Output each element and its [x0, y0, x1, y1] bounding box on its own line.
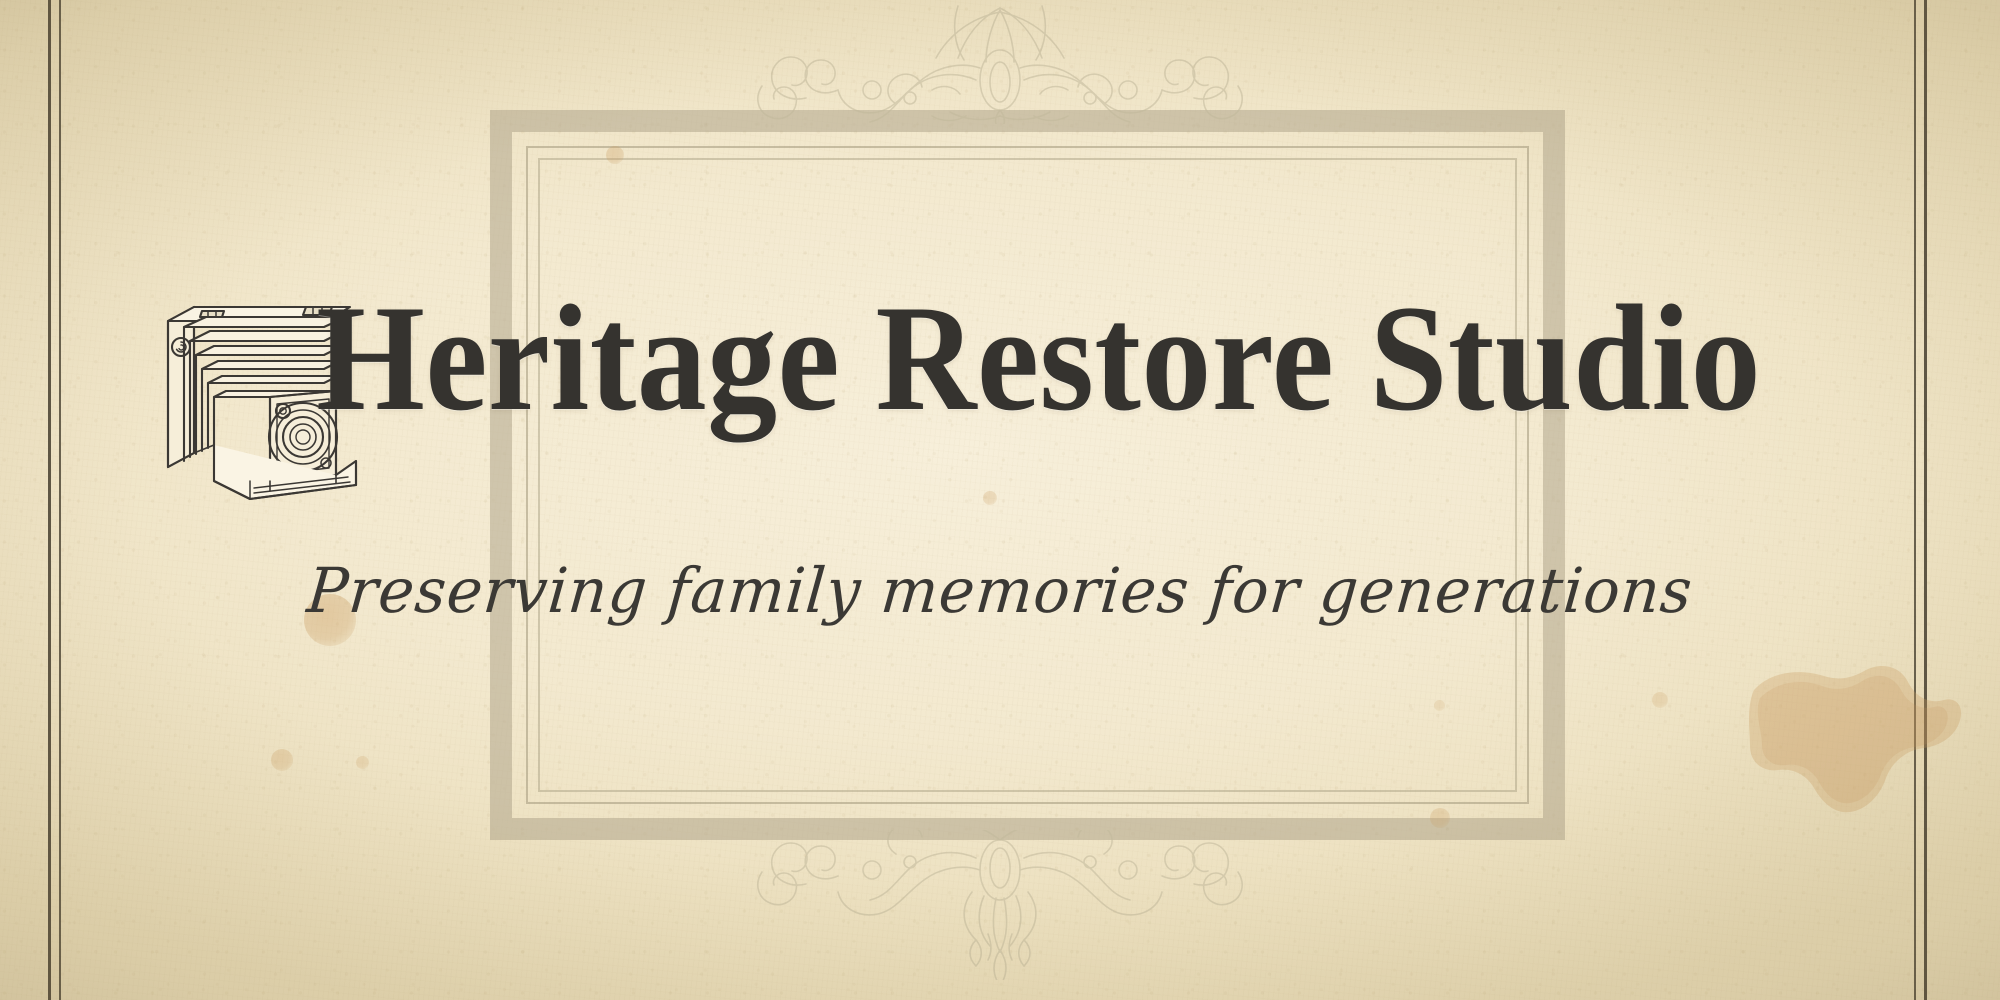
frame-inner-rule-inner	[538, 158, 1517, 792]
age-spot-right	[1652, 692, 1668, 708]
age-spot-lower-left	[271, 749, 293, 771]
decorative-frame	[490, 110, 1565, 840]
filigree-ornament-top-icon	[700, 0, 1300, 124]
age-spot-extra-a	[356, 756, 369, 769]
banner-canvas: Heritage Restore Studio Preserving famil…	[0, 0, 2000, 1000]
page-title: Heritage Restore Studio	[80, 282, 1920, 434]
edge-rule-right	[1914, 0, 1930, 1000]
page-subtitle: Preserving family memories for generatio…	[27, 560, 1972, 622]
edge-rule-left	[48, 0, 64, 1000]
filigree-ornament-bottom-icon	[700, 830, 1300, 980]
water-stain-right	[1740, 650, 1970, 830]
